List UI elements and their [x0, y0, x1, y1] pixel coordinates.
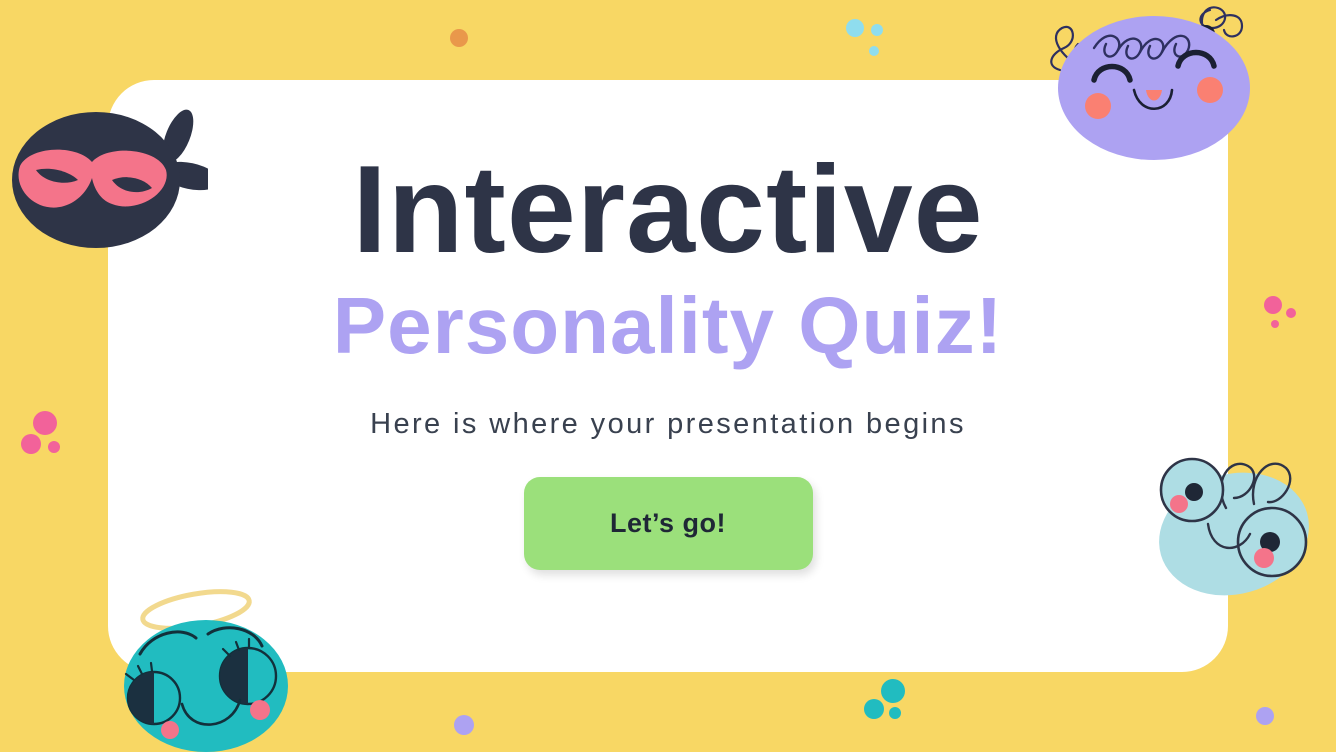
frog-cheek-right — [1254, 548, 1274, 568]
purple-antenna-bead-right — [1197, 25, 1215, 43]
purple-antenna-right — [1200, 7, 1242, 36]
page-subtitle: Personality Quiz! — [333, 286, 1003, 366]
tagline-text: Here is where your presentation begins — [370, 408, 966, 441]
purple-antenna-bead-left — [1075, 49, 1093, 67]
confetti-dot-pink — [1264, 296, 1282, 314]
confetti-dot-purple — [1256, 707, 1274, 725]
purple-antenna-left — [1051, 27, 1082, 70]
angel-cheek-right — [250, 700, 270, 720]
confetti-dot-orange — [450, 29, 468, 47]
purple-eye-right — [1178, 53, 1214, 67]
angel-mouth — [182, 700, 240, 725]
confetti-dot-blue — [869, 46, 879, 56]
confetti-dot-pink — [21, 434, 41, 454]
confetti-dot-purple — [454, 715, 474, 735]
lets-go-button[interactable]: Let’s go! — [524, 477, 813, 570]
page-title: Interactive — [352, 148, 983, 272]
ninja-eye-left — [36, 169, 78, 183]
frog-antennae — [1221, 464, 1290, 508]
frog-eye-right-outline — [1238, 508, 1306, 576]
confetti-dot-pink — [48, 441, 60, 453]
frog-pupil-right — [1260, 532, 1280, 552]
confetti-dot-blue — [846, 19, 864, 37]
angel-eye-left — [126, 663, 180, 724]
confetti-dot-pink — [1271, 320, 1279, 328]
confetti-dot-blue — [871, 24, 883, 36]
purple-hair-curls — [1094, 36, 1189, 59]
presentation-slide: Interactive Personality Quiz! Here is wh… — [0, 0, 1336, 752]
confetti-dot-teal — [864, 699, 884, 719]
confetti-dot-teal — [889, 707, 901, 719]
slide-content: Interactive Personality Quiz! Here is wh… — [108, 80, 1228, 672]
angel-cheek-left — [161, 721, 179, 739]
confetti-dot-pink — [33, 411, 57, 435]
purple-eye-left — [1094, 67, 1130, 81]
confetti-dot-teal — [881, 679, 905, 703]
confetti-dot-pink — [1286, 308, 1296, 318]
